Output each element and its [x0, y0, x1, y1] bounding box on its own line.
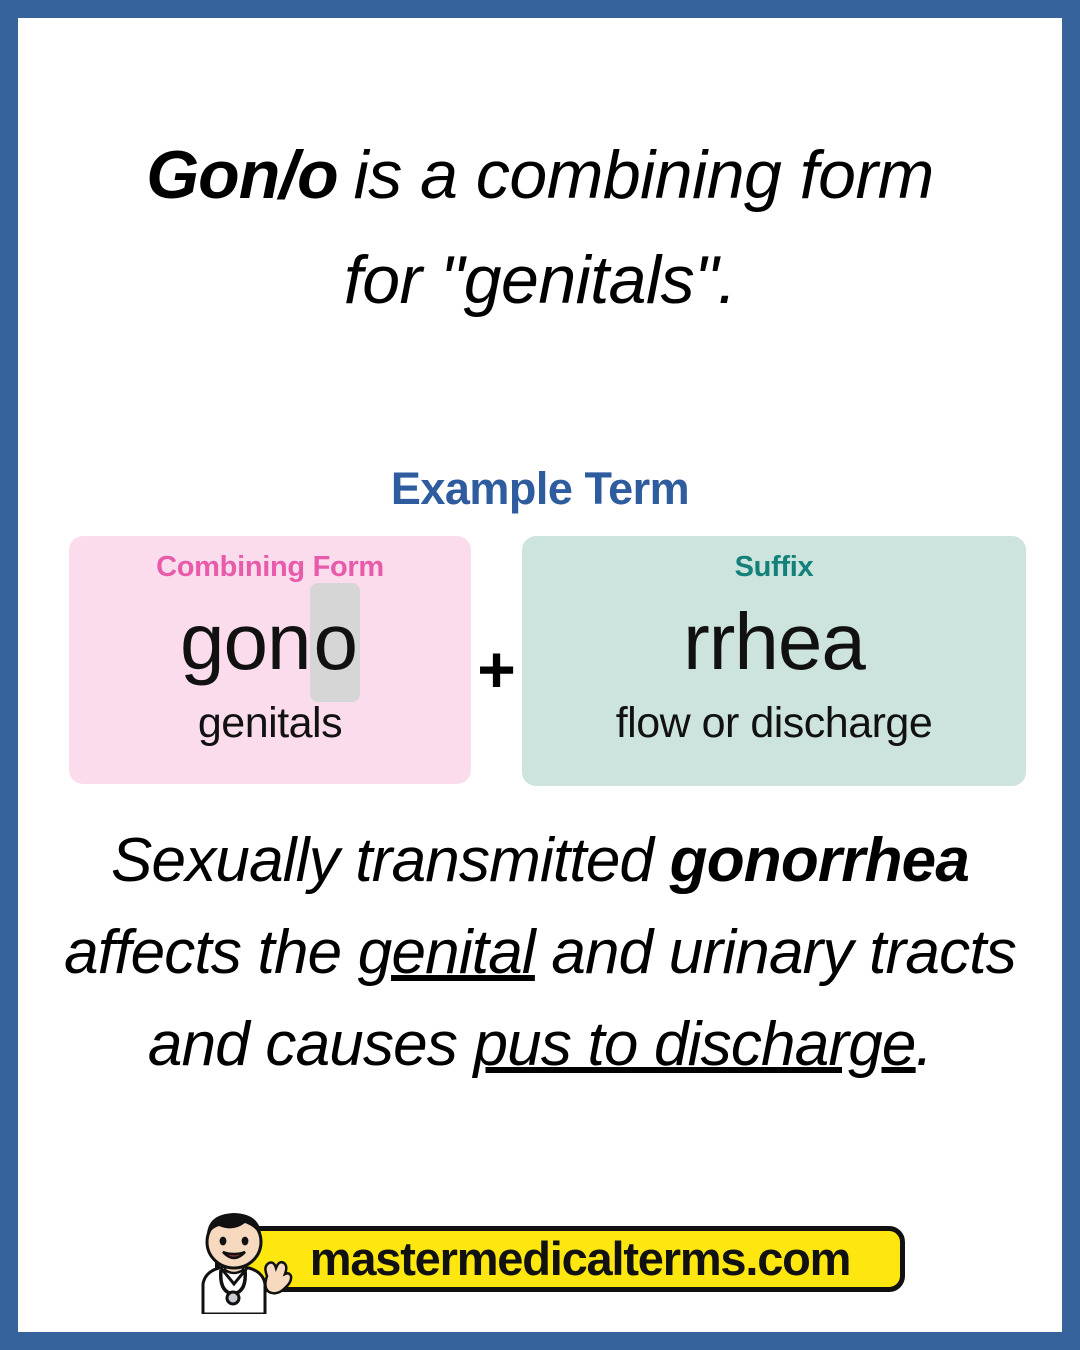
- sentence-segment-2: affects the: [64, 918, 358, 987]
- sentence-underline-1: genital: [358, 918, 535, 987]
- example-term-heading: Example Term: [18, 463, 1062, 515]
- term-breakdown: Combining Form gono genitals + Suffix rr…: [18, 536, 1062, 806]
- combining-form-root: gon: [180, 597, 310, 686]
- suffix-value: rrhea: [522, 597, 1026, 687]
- sentence-bold-term: gonorrhea: [670, 826, 969, 895]
- card-frame: Gon/ois a combining form for "genitals".…: [18, 18, 1062, 1332]
- suffix-meaning: flow or discharge: [522, 700, 1026, 747]
- page-title: Gon/ois a combining form for "genitals".: [18, 123, 1062, 334]
- site-logo[interactable]: mastermedicalterms.com: [175, 1206, 905, 1314]
- combining-form-term: Gon/o: [146, 137, 337, 213]
- title-line1-rest: is a combining form: [354, 137, 934, 213]
- combining-form-card: Combining Form gono genitals: [69, 536, 471, 784]
- sentence-segment-1: Sexually transmitted: [111, 826, 670, 895]
- suffix-label: Suffix: [522, 550, 1026, 585]
- combining-form-meaning: genitals: [69, 700, 471, 747]
- footer: mastermedicalterms.com: [18, 1206, 1062, 1314]
- combining-form-label: Combining Form: [69, 550, 471, 585]
- title-line2: for "genitals".: [344, 242, 736, 318]
- site-url-text: mastermedicalterms.com: [265, 1227, 895, 1291]
- sentence-underline-2: pus to discharge: [473, 1010, 915, 1079]
- plus-operator: +: [471, 636, 522, 702]
- combining-vowel-highlight: o: [310, 583, 360, 702]
- suffix-card: Suffix rrhea flow or discharge: [522, 536, 1026, 786]
- combining-form-value: gono: [69, 597, 471, 687]
- example-sentence: Sexually transmitted gonorrhea affects t…: [18, 815, 1062, 1090]
- sentence-segment-4: .: [916, 1010, 932, 1079]
- doctor-mascot-icon: [175, 1206, 293, 1314]
